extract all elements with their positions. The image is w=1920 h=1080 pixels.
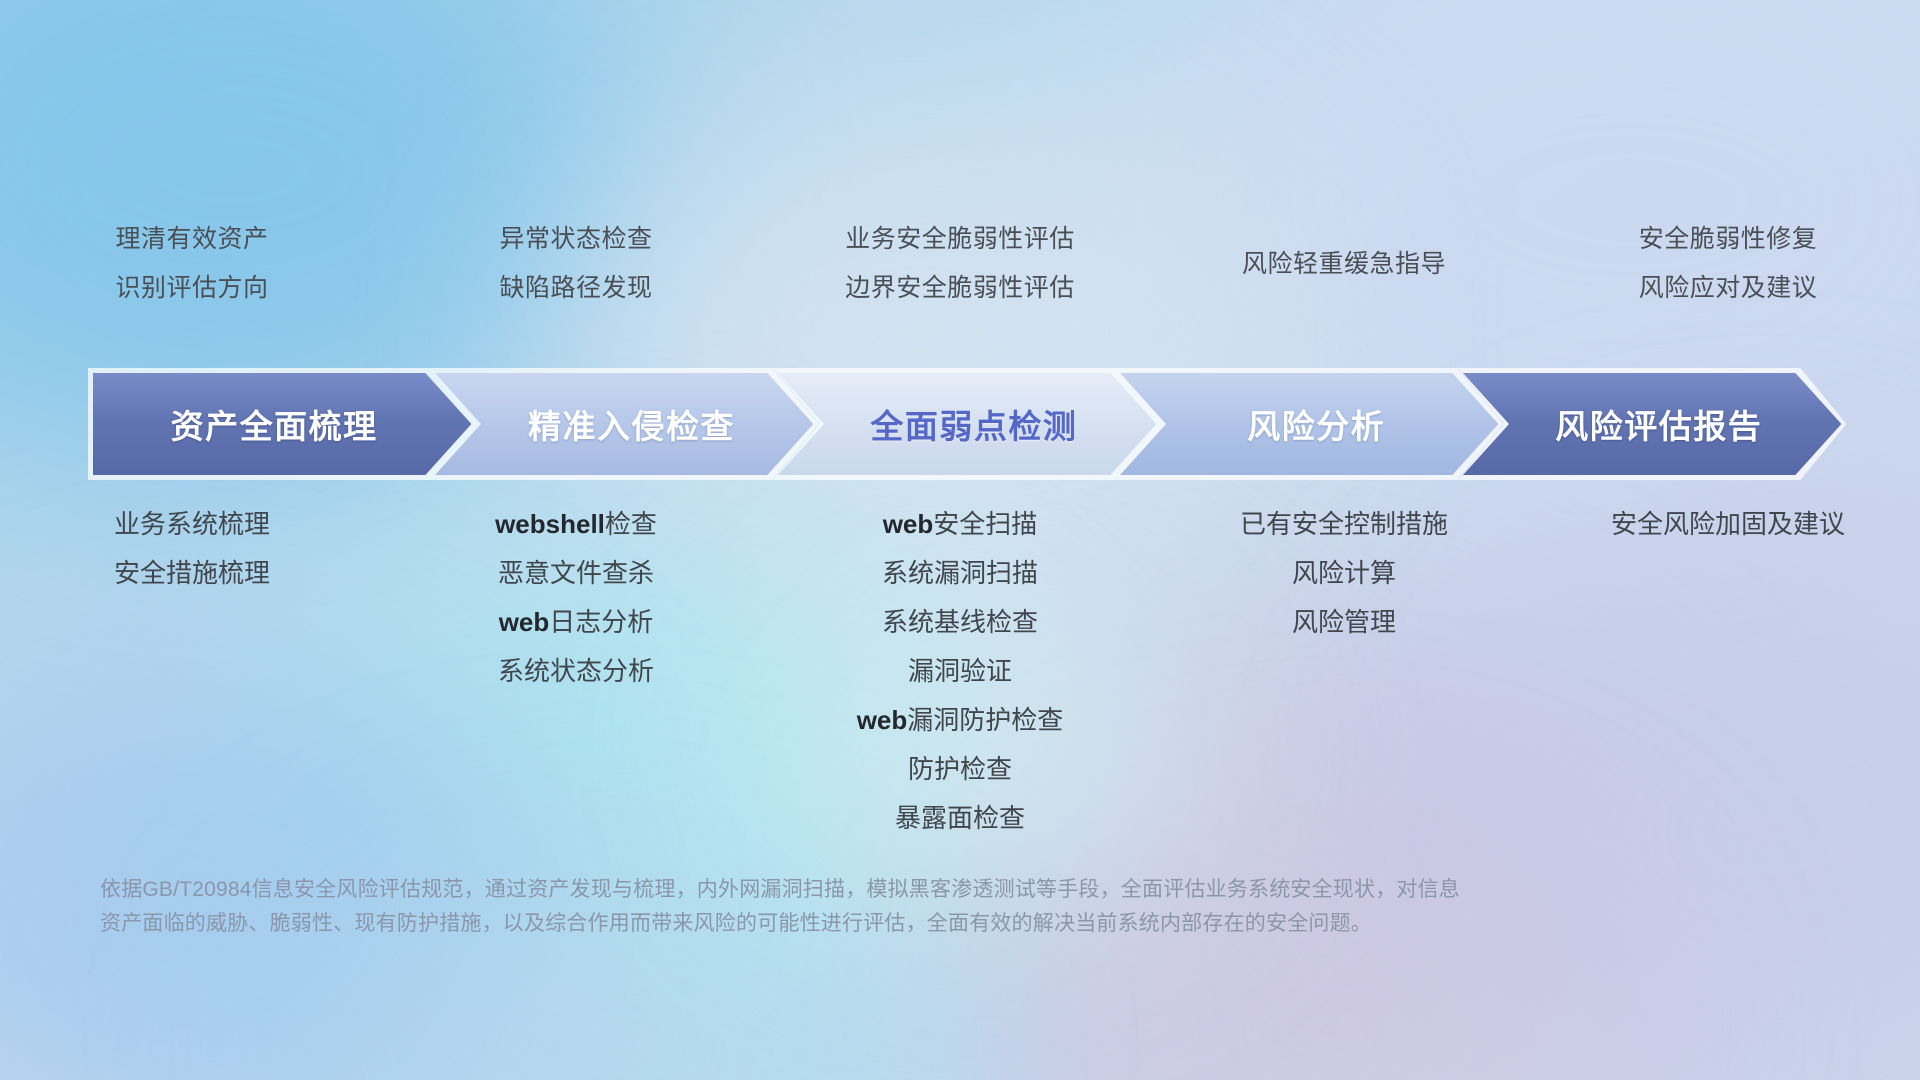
detail-list-stage-5: 安全风险加固及建议	[1536, 500, 1920, 549]
detail-item: 安全风险加固及建议	[1611, 500, 1845, 549]
detail-item-rest: 漏洞防护检查	[907, 705, 1063, 735]
detail-list-stage-3: web安全扫描系统漏洞扫描系统基线检查漏洞验证web漏洞防护检查防护检查暴露面检…	[768, 500, 1152, 843]
footer-line-2: 资产面临的威胁、脆弱性、现有防护措施，以及综合作用而带来风险的可能性进行评估，全…	[100, 907, 1840, 941]
footer-description: 依据GB/T20984信息安全风险评估规范，通过资产发现与梳理，内外网漏洞扫描，…	[100, 873, 1840, 941]
chevron-title: 风险分析	[1247, 400, 1385, 448]
detail-item-emphasis: web	[499, 607, 550, 637]
detail-item-rest: 检查	[605, 509, 657, 539]
chevron-stage-1[interactable]: 资产全面梳理	[88, 368, 476, 480]
chevron-process-band: 资产全面梳理精准入侵检查全面弱点检测风险分析风险评估报告	[88, 368, 1846, 480]
chevron-stage-3[interactable]: 全面弱点检测	[773, 368, 1161, 480]
detail-item: 漏洞验证	[908, 647, 1012, 696]
detail-item-rest: 安全扫描	[933, 509, 1037, 539]
detail-item-rest: 日志分析	[549, 607, 653, 637]
top-labels-row: 理清有效资产识别评估方向异常状态检查缺陷路径发现业务安全脆弱性评估边界安全脆弱性…	[0, 215, 1920, 365]
top-label-item: 风险轻重缓急指导	[1242, 240, 1446, 289]
top-label-item: 理清有效资产	[115, 215, 268, 264]
detail-item: web日志分析	[499, 598, 654, 647]
detail-item-emphasis: web	[883, 509, 934, 539]
detail-item: 已有安全控制措施	[1240, 500, 1448, 549]
detail-item: web安全扫描	[883, 500, 1038, 549]
chevron-title: 资产全面梳理	[171, 400, 378, 448]
detail-list-stage-4: 已有安全控制措施风险计算风险管理	[1152, 500, 1536, 647]
chevron-title: 风险评估报告	[1555, 400, 1762, 448]
top-label-item: 识别评估方向	[115, 264, 268, 313]
top-labels-stage-3: 业务安全脆弱性评估边界安全脆弱性评估	[768, 215, 1152, 365]
detail-item: 系统漏洞扫描	[882, 549, 1038, 598]
detail-item: 防护检查	[908, 745, 1012, 794]
detail-item: web漏洞防护检查	[857, 696, 1064, 745]
chevron-title: 全面弱点检测	[870, 400, 1077, 448]
detail-list-stage-1: 业务系统梳理安全措施梳理	[0, 500, 384, 598]
top-label-item: 业务安全脆弱性评估	[845, 215, 1075, 264]
chevron-stage-2[interactable]: 精准入侵检查	[430, 368, 818, 480]
detail-item: 业务系统梳理	[114, 500, 270, 549]
top-labels-stage-5: 安全脆弱性修复风险应对及建议	[1536, 215, 1920, 365]
chevron-stage-4[interactable]: 风险分析	[1115, 368, 1503, 480]
bottom-detail-row: 业务系统梳理安全措施梳理webshell检查恶意文件查杀web日志分析系统状态分…	[0, 500, 1920, 843]
detail-item: webshell检查	[495, 500, 657, 549]
chevron-stage-5[interactable]: 风险评估报告	[1458, 368, 1846, 480]
detail-item: 风险管理	[1292, 598, 1396, 647]
footer-line-1: 依据GB/T20984信息安全风险评估规范，通过资产发现与梳理，内外网漏洞扫描，…	[100, 873, 1840, 907]
detail-item: 暴露面检查	[895, 794, 1025, 843]
top-label-item: 缺陷路径发现	[499, 264, 652, 313]
top-labels-stage-2: 异常状态检查缺陷路径发现	[384, 215, 768, 365]
top-label-item: 安全脆弱性修复	[1639, 215, 1818, 264]
detail-list-stage-2: webshell检查恶意文件查杀web日志分析系统状态分析	[384, 500, 768, 696]
top-label-item: 边界安全脆弱性评估	[845, 264, 1075, 313]
detail-item: 恶意文件查杀	[498, 549, 654, 598]
detail-item-emphasis: web	[857, 705, 908, 735]
detail-item-emphasis: webshell	[495, 509, 605, 539]
top-labels-stage-4: 风险轻重缓急指导	[1152, 215, 1536, 365]
process-diagram: 理清有效资产识别评估方向异常状态检查缺陷路径发现业务安全脆弱性评估边界安全脆弱性…	[0, 0, 1920, 1080]
top-label-item: 风险应对及建议	[1639, 264, 1818, 313]
detail-item: 系统状态分析	[498, 647, 654, 696]
detail-item: 安全措施梳理	[114, 549, 270, 598]
chevron-title: 精准入侵检查	[528, 400, 735, 448]
detail-item: 风险计算	[1292, 549, 1396, 598]
top-labels-stage-1: 理清有效资产识别评估方向	[0, 215, 384, 365]
detail-item: 系统基线检查	[882, 598, 1038, 647]
top-label-item: 异常状态检查	[499, 215, 652, 264]
